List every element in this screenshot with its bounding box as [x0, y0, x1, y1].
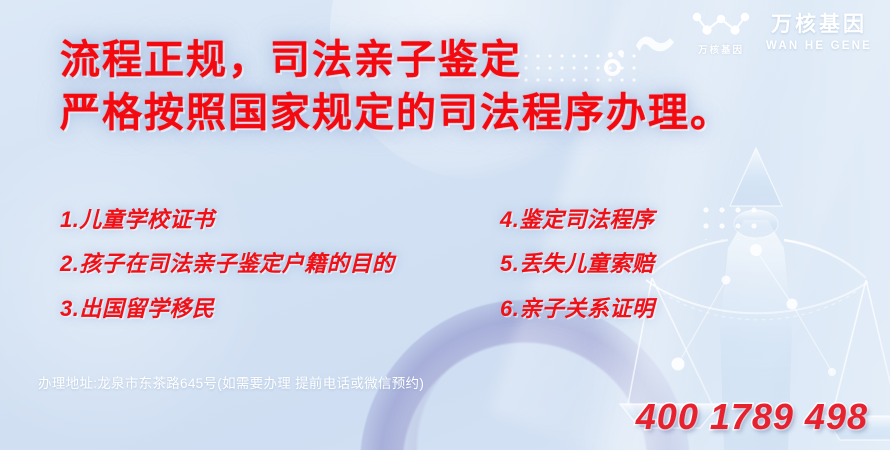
promo-banner: 万核基因 万核基因 WAN HE GENE 流程正规，司法亲子鉴定 严格按照国家…: [0, 0, 890, 450]
logo-brand-en: WAN HE GENE: [766, 41, 872, 53]
list-item: 3.出国留学移民: [60, 287, 500, 331]
logo-brand-cn: 万核基因: [771, 14, 867, 35]
list-item: 4.鉴定司法程序: [500, 198, 760, 242]
purple-arc-inner-decor: [398, 336, 648, 450]
logo-wordmark: 万核基因 WAN HE GENE: [766, 14, 872, 53]
list-item: 1.儿童学校证书: [60, 198, 500, 242]
list-item: 5.丢失儿童索赔: [500, 242, 760, 286]
address-text: 办理地址:龙泉市东茶路645号(如需要办理 提前电话或微信预约): [38, 372, 424, 392]
phone-number[interactable]: 400 1789 498: [636, 396, 868, 438]
service-list-left-column: 1.儿童学校证书 2.孩子在司法亲子鉴定户籍的目的 3.出国留学移民: [60, 198, 500, 331]
headline-line-2: 严格按照国家规定的司法程序办理。: [60, 89, 732, 138]
headline-line-1: 流程正规，司法亲子鉴定: [60, 36, 732, 85]
headline: 流程正规，司法亲子鉴定 严格按照国家规定的司法程序办理。: [60, 36, 732, 138]
list-item: 6.亲子关系证明: [500, 287, 760, 331]
service-list: 1.儿童学校证书 2.孩子在司法亲子鉴定户籍的目的 3.出国留学移民 4.鉴定司…: [60, 198, 760, 331]
service-list-right-column: 4.鉴定司法程序 5.丢失儿童索赔 6.亲子关系证明: [500, 198, 760, 331]
list-item: 2.孩子在司法亲子鉴定户籍的目的: [60, 242, 500, 286]
